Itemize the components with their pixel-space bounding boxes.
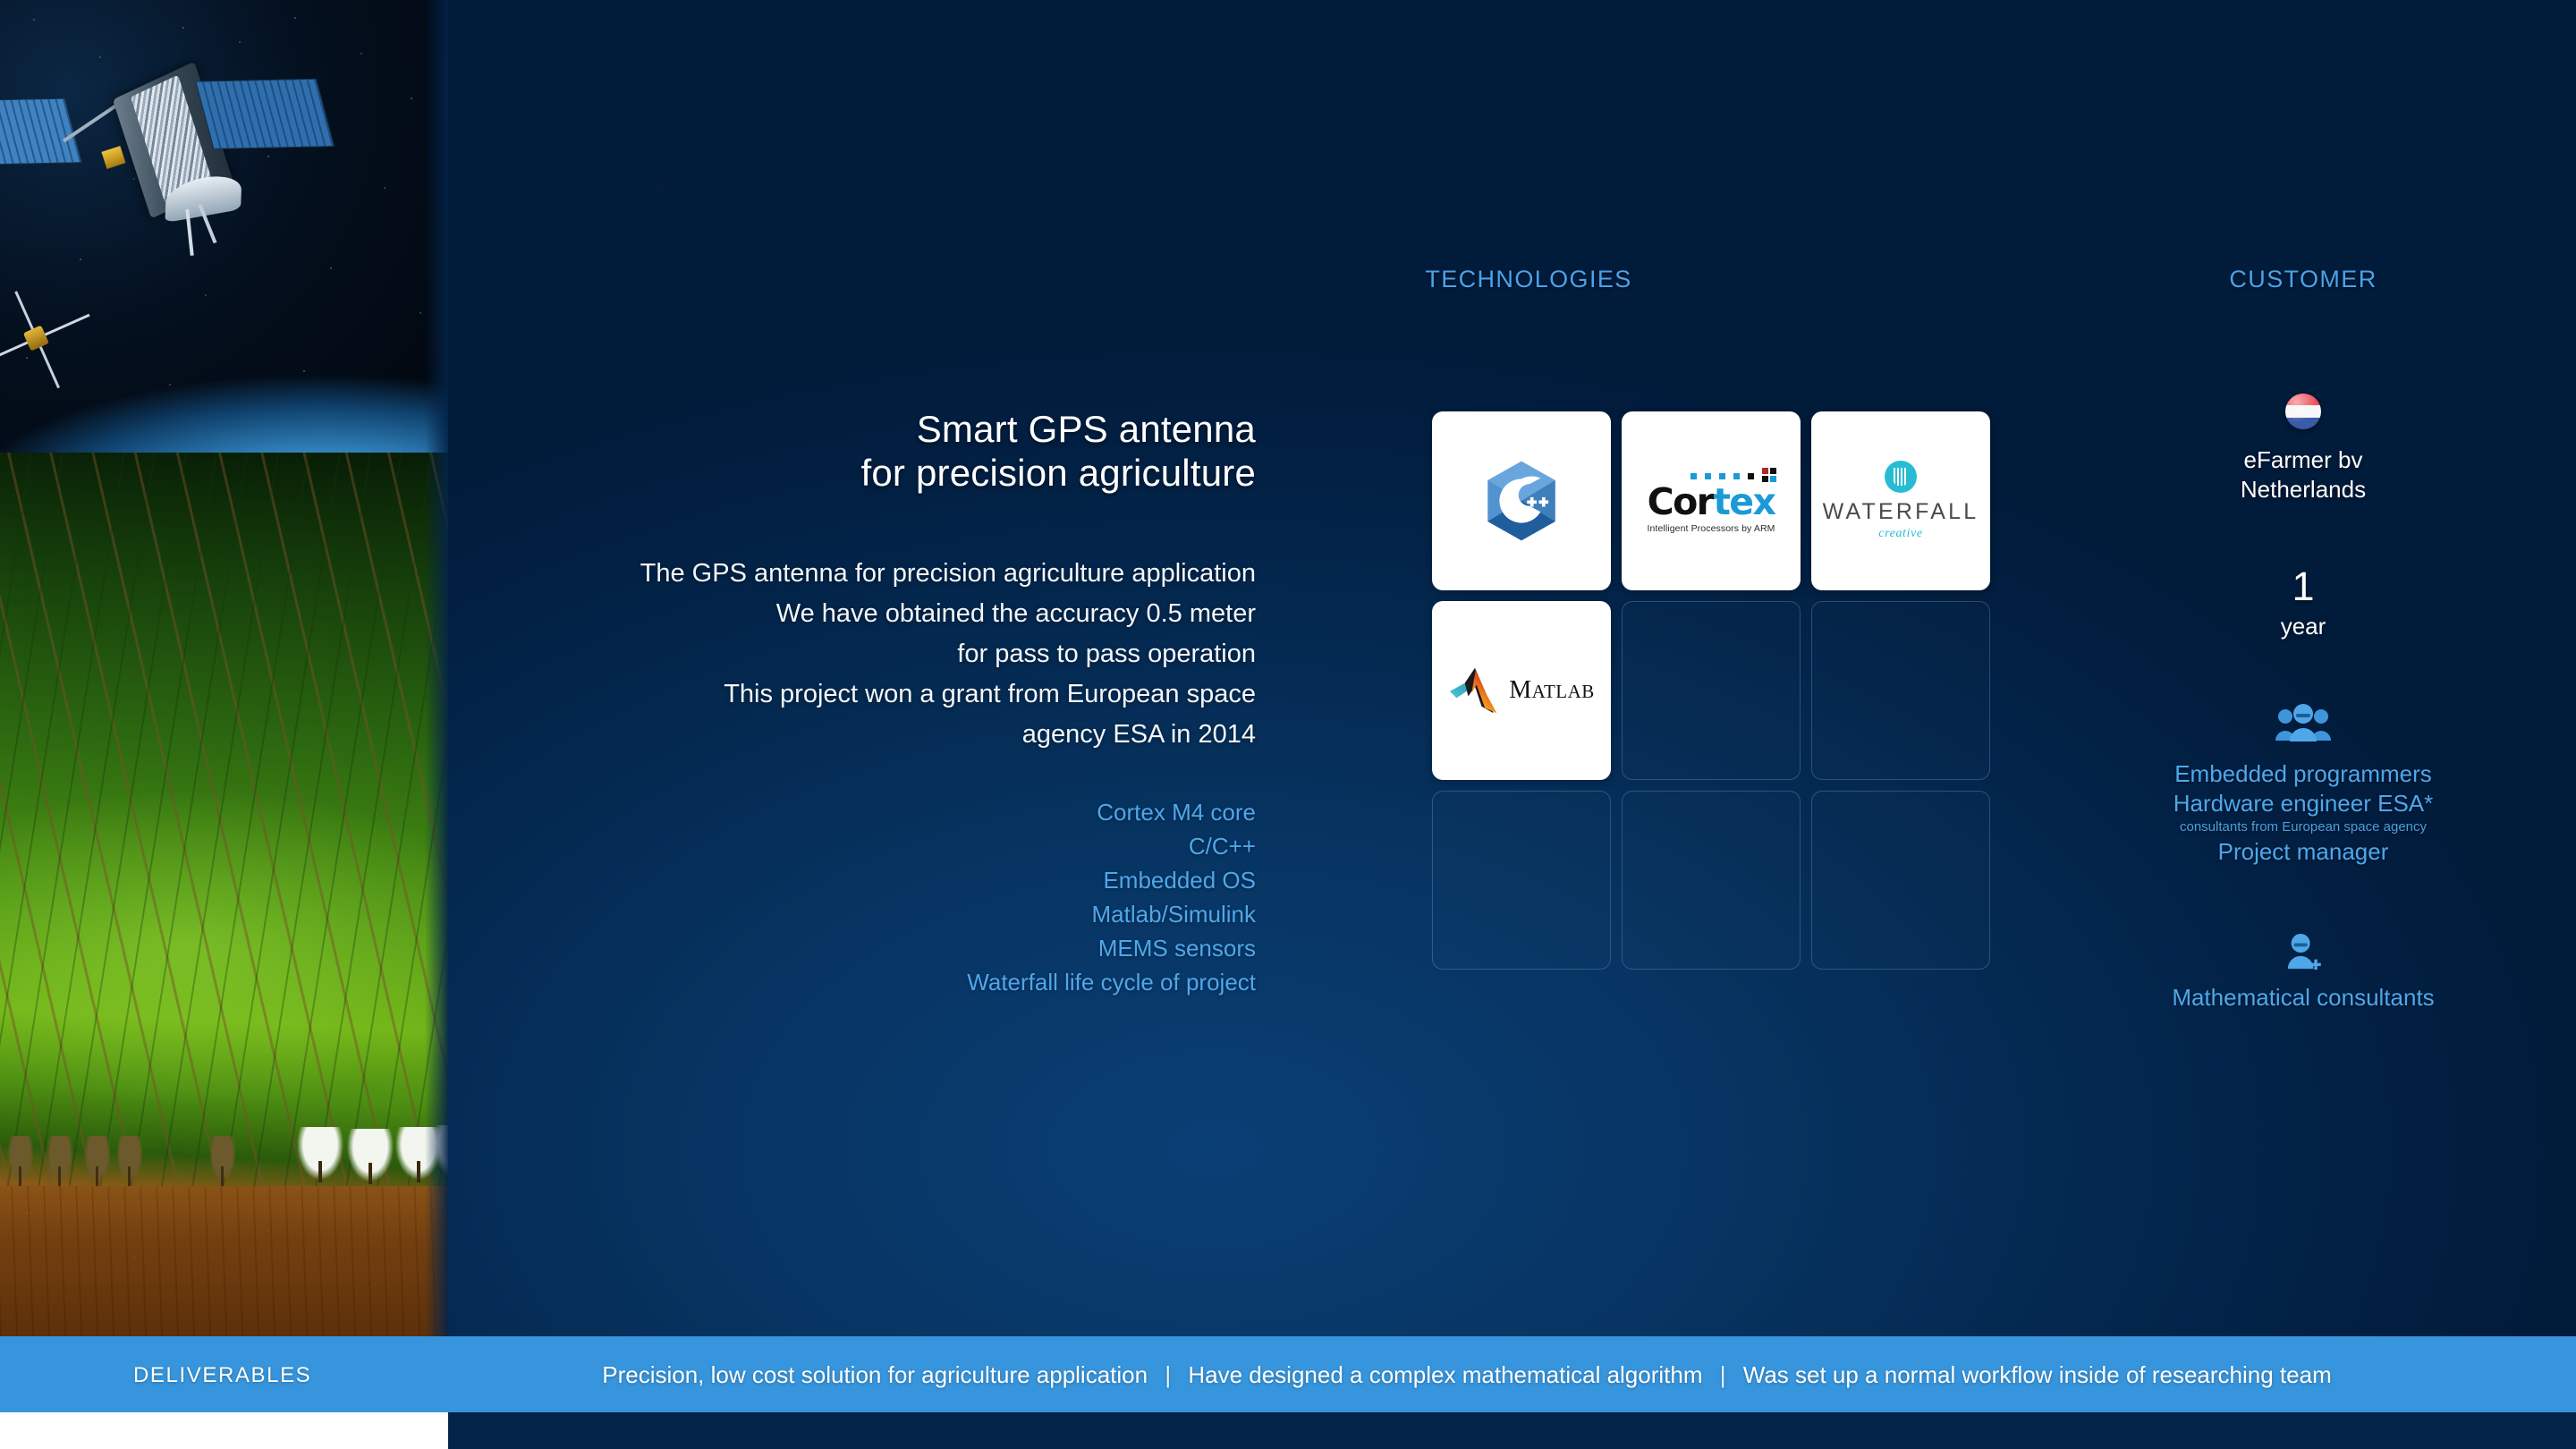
tech-tile-empty-7 xyxy=(1432,791,1611,970)
description-line-3: for pass to pass operation xyxy=(501,634,1256,674)
project-text-block: Smart GPS antenna for precision agricult… xyxy=(501,407,1256,1000)
add-person-icon xyxy=(2284,933,2322,972)
customer-column: eFarmer bv Netherlands 1 year Embedded p… xyxy=(2124,394,2482,1012)
technologies-grid: Cortex Intelligent Processors by ARM WAT… xyxy=(1432,411,1990,970)
deliverable-item: Precision, low cost solution for agricul… xyxy=(602,1361,1148,1388)
role-item: Hardware engineer ESA* xyxy=(2124,789,2482,818)
consultants-block: Mathematical consultants xyxy=(2124,933,2482,1012)
cortex-wordmark: Cortex xyxy=(1636,484,1786,521)
duration-unit: year xyxy=(2124,613,2482,640)
title-line-1: Smart GPS antenna xyxy=(501,407,1256,451)
cortex-tagline: Intelligent Processors by ARM xyxy=(1636,524,1786,534)
tag-item: MEMS sensors xyxy=(501,932,1256,966)
tree-row xyxy=(0,1114,448,1186)
technologies-header: TECHNOLOGIES xyxy=(1350,266,1707,293)
deliverables-items: Precision, low cost solution for agricul… xyxy=(537,1361,2397,1389)
matlab-logo-icon: MATLAB xyxy=(1448,665,1595,716)
netherlands-flag-icon xyxy=(2285,394,2321,429)
technology-tag-list: Cortex M4 core C/C++ Embedded OS Matlab/… xyxy=(501,796,1256,1000)
cortex-logo-icon: Cortex Intelligent Processors by ARM xyxy=(1636,468,1786,534)
satellite-photo xyxy=(0,0,448,453)
deliverables-title: DELIVERABLES xyxy=(133,1363,311,1388)
tech-tile-cpp[interactable] xyxy=(1432,411,1611,590)
media-column xyxy=(0,0,448,1336)
team-block: Embedded programmers Hardware engineer E… xyxy=(2124,703,2482,868)
waterfall-wordmark: WATERFALL xyxy=(1823,499,1979,525)
tag-item: Matlab/Simulink xyxy=(501,898,1256,932)
description-line-2: We have obtained the accuracy 0.5 meter xyxy=(501,594,1256,634)
tech-tile-cortex[interactable]: Cortex Intelligent Processors by ARM xyxy=(1622,411,1801,590)
team-roles-list: Embedded programmers Hardware engineer E… xyxy=(2124,759,2482,868)
deliverable-separator: | xyxy=(1154,1361,1182,1389)
tech-tile-empty-6 xyxy=(1811,601,1990,780)
deliverable-item: Was set up a normal workflow inside of r… xyxy=(1743,1361,2332,1388)
role-item: Embedded programmers xyxy=(2124,759,2482,789)
customer-name-block: eFarmer bv Netherlands xyxy=(2124,445,2482,505)
cpp-logo-icon xyxy=(1485,460,1558,542)
tag-item: C/C++ xyxy=(501,830,1256,864)
customer-country: Netherlands xyxy=(2124,475,2482,504)
description-line-1: The GPS antenna for precision agricultur… xyxy=(501,554,1256,594)
team-icon xyxy=(2275,703,2332,742)
deliverable-item: Have designed a complex mathematical alg… xyxy=(1188,1361,1702,1388)
tech-tile-empty-9 xyxy=(1811,791,1990,970)
media-edge-fade xyxy=(425,0,448,1336)
customer-company: eFarmer bv xyxy=(2124,445,2482,475)
deliverable-separator: | xyxy=(1709,1361,1737,1389)
footer-left-strip xyxy=(0,1412,448,1449)
consultants-label: Mathematical consultants xyxy=(2124,984,2482,1012)
roles-footnote: consultants from European space agency xyxy=(2124,819,2482,835)
tech-tile-waterfall[interactable]: WATERFALL creative xyxy=(1811,411,1990,590)
customer-header: CUSTOMER xyxy=(2124,266,2482,293)
page-title: Smart GPS antenna for precision agricult… xyxy=(501,407,1256,495)
tech-tile-empty-8 xyxy=(1622,791,1801,970)
title-line-2: for precision agriculture xyxy=(501,451,1256,495)
tag-item: Waterfall life cycle of project xyxy=(501,966,1256,1000)
waterfall-tagline: creative xyxy=(1823,527,1979,541)
tech-tile-matlab[interactable]: MATLAB xyxy=(1432,601,1611,780)
tech-tile-empty-5 xyxy=(1622,601,1801,780)
tag-item: Embedded OS xyxy=(501,864,1256,898)
agriculture-field-photo xyxy=(0,453,448,1336)
slide-root: TECHNOLOGIES CUSTOMER Smart GPS antenna … xyxy=(0,0,2576,1449)
tag-item: Cortex M4 core xyxy=(501,796,1256,830)
description-line-5: agency ESA in 2014 xyxy=(501,715,1256,755)
description-line-4: This project won a grant from European s… xyxy=(501,674,1256,715)
waterfall-logo-icon: WATERFALL creative xyxy=(1823,461,1979,541)
project-description: The GPS antenna for precision agricultur… xyxy=(501,554,1256,755)
project-duration: 1 year xyxy=(2124,566,2482,640)
soil-strip xyxy=(0,1186,448,1336)
matlab-wordmark: MATLAB xyxy=(1509,676,1595,705)
duration-value: 1 xyxy=(2124,566,2482,606)
footer-right-strip xyxy=(448,1412,2576,1449)
role-item: Project manager xyxy=(2124,837,2482,867)
